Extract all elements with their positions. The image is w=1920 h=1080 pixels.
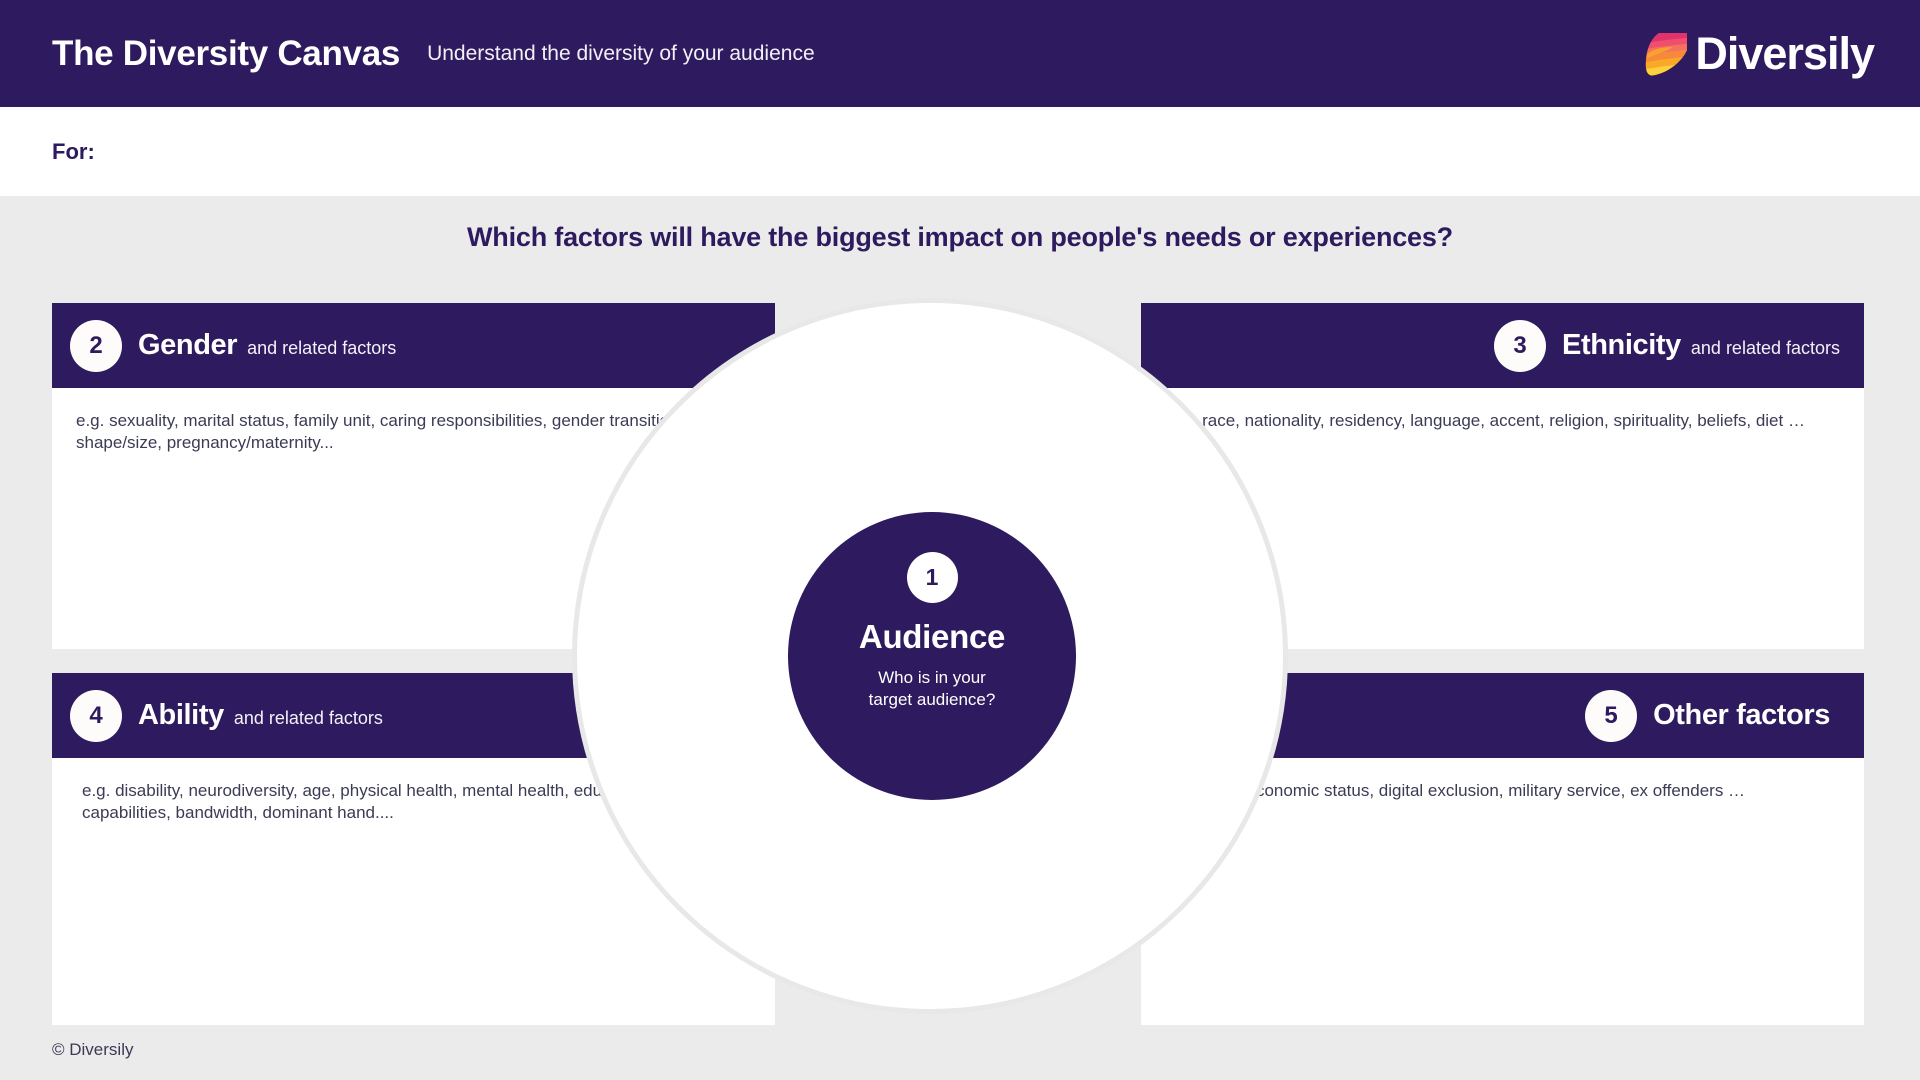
audience-number-badge: 1 [907, 552, 958, 603]
factor-card-title: Other factors [1653, 701, 1830, 730]
audience-subtitle-line-2: target audience? [869, 690, 996, 709]
for-input[interactable] [109, 131, 1860, 173]
factor-card-body[interactable]: e.g. race, nationality, residency, langu… [1141, 388, 1864, 432]
factor-number-badge: 3 [1494, 320, 1546, 372]
brand-name: Diversily [1695, 31, 1874, 76]
diversily-globe-logo-icon [1643, 30, 1689, 78]
question-heading: Which factors will have the biggest impa… [0, 222, 1920, 253]
factor-number-badge: 2 [70, 320, 122, 372]
factor-card-title: Ethnicity [1562, 331, 1681, 360]
factor-card-titles: Ability and related factors [138, 701, 383, 730]
factor-card-titles: Gender and related factors [138, 331, 396, 360]
diversity-canvas-page: The Diversity Canvas Understand the dive… [0, 0, 1920, 1080]
audience-subtitle-line-1: Who is in your [878, 668, 986, 687]
factor-number-badge: 4 [70, 690, 122, 742]
factor-card-title: Gender [138, 331, 237, 360]
factor-number-badge: 5 [1585, 690, 1637, 742]
page-subtitle: Understand the diversity of your audienc… [427, 43, 815, 64]
factor-card-header: 3 Ethnicity and related factors [1141, 303, 1864, 388]
factor-card-subtitle: and related factors [247, 339, 396, 357]
page-title: The Diversity Canvas [52, 36, 400, 71]
factor-card-subtitle: and related factors [234, 709, 383, 727]
for-label: For: [52, 141, 95, 163]
audience-center-circle[interactable]: 1 Audience Who is in your target audienc… [788, 512, 1076, 800]
factor-card-titles: Other factors [1653, 701, 1840, 730]
factor-card-subtitle: and related factors [1691, 339, 1840, 357]
factor-card-title: Ability [138, 701, 224, 730]
footer-copyright: © Diversily [52, 1040, 133, 1060]
page-header: The Diversity Canvas Understand the dive… [0, 0, 1920, 107]
diversily-brand: Diversily [1643, 30, 1874, 78]
factor-card-header: 2 Gender and related factors [52, 303, 775, 388]
audience-title: Audience [859, 620, 1005, 653]
for-band: For: [0, 107, 1920, 196]
factor-card-titles: Ethnicity and related factors [1562, 331, 1840, 360]
audience-subtitle: Who is in your target audience? [869, 667, 996, 712]
